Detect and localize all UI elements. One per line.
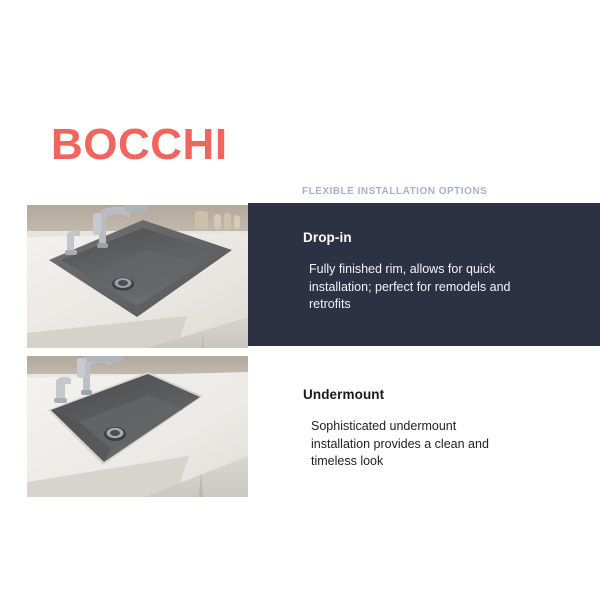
drop-in-sink-image (27, 205, 248, 348)
drop-in-description: Fully finished rim, allows for quick ins… (309, 261, 514, 314)
drop-in-heading: Drop-in (303, 230, 352, 245)
product-infographic: BOCCHI FLEXIBLE INSTALLATION OPTIONS (0, 0, 600, 600)
undermount-sink-illustration (27, 356, 248, 497)
section-eyebrow-label: FLEXIBLE INSTALLATION OPTIONS (302, 186, 487, 197)
brand-logo: BOCCHI (51, 119, 228, 171)
undermount-sink-image (27, 356, 248, 497)
drop-in-sink-illustration (27, 205, 248, 348)
undermount-description: Sophisticated undermount installation pr… (311, 418, 516, 471)
undermount-heading: Undermount (303, 387, 384, 402)
